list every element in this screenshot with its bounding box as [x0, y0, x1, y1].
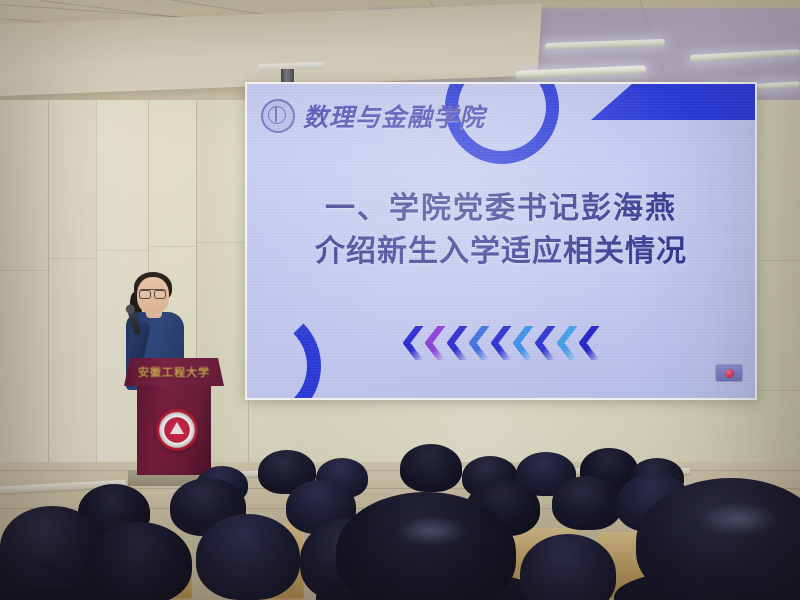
chevron-icon: [513, 326, 534, 360]
chevron-icon: [491, 326, 512, 360]
university-crest-icon: [156, 409, 198, 451]
chevron-icon: [579, 326, 600, 360]
slide-title-line1: 一、学院党委书记彭海燕: [247, 188, 755, 231]
chevron-decoration-row: [247, 326, 755, 360]
badge-dot-icon: [725, 369, 734, 378]
slide-title: 一、学院党委书记彭海燕 介绍新生入学适应相关情况: [247, 188, 755, 273]
auditorium-photo: 数理与金融学院 一、学院党委书记彭海燕 介绍新生入学适应相关情况: [0, 0, 800, 600]
chevron-icon: [469, 326, 490, 360]
slide-canvas: 数理与金融学院 一、学院党委书记彭海燕 介绍新生入学适应相关情况: [247, 84, 755, 398]
chevron-icon: [403, 326, 424, 360]
projection-screen: 数理与金融学院 一、学院党委书记彭海燕 介绍新生入学适应相关情况: [245, 82, 757, 400]
wall-base-rail-right: [440, 468, 690, 474]
university-seal-icon: [261, 99, 295, 133]
slide-corner-badge-icon: [715, 364, 743, 382]
lectern-nameplate: 安徽工程大学: [124, 358, 224, 386]
chevron-icon: [535, 326, 556, 360]
chevron-icon: [557, 326, 578, 360]
chevron-icon: [425, 326, 446, 360]
chevron-icon: [447, 326, 468, 360]
slide-org-name: 数理与金融学院: [303, 98, 485, 134]
slide-title-line2: 介绍新生入学适应相关情况: [247, 231, 755, 274]
slide-header: 数理与金融学院: [261, 98, 485, 134]
lectern-nameplate-text: 安徽工程大学: [138, 364, 210, 380]
glasses-icon: [139, 289, 166, 297]
angled-band-decoration: [591, 84, 755, 120]
